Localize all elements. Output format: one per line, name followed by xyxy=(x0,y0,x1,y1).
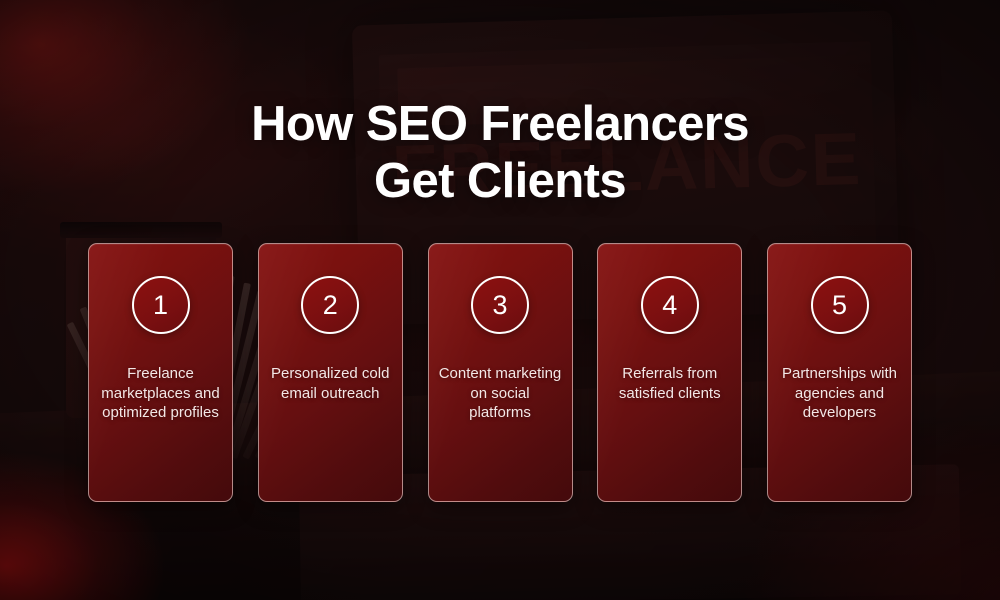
step-description-3: Content marketing on social platforms xyxy=(429,364,572,423)
page-title-line-1: How SEO Freelancers xyxy=(90,96,910,153)
step-number-badge-3: 3 xyxy=(471,276,529,334)
step-number-5: 5 xyxy=(832,292,847,319)
step-description-2: Personalized cold email outreach xyxy=(259,364,402,403)
step-card-5[interactable]: 5 Partnerships with agencies and develop… xyxy=(767,243,912,502)
step-card-1[interactable]: 1 Freelance marketplaces and optimized p… xyxy=(88,243,233,502)
step-number-4: 4 xyxy=(662,292,677,319)
step-description-1: Freelance marketplaces and optimized pro… xyxy=(89,364,232,423)
steps-card-row: 1 Freelance marketplaces and optimized p… xyxy=(88,243,912,502)
infographic-canvas: FREELANCE How SEO Freelancers Get Client… xyxy=(0,0,1000,600)
step-number-2: 2 xyxy=(323,292,338,319)
step-number-badge-4: 4 xyxy=(641,276,699,334)
step-number-badge-2: 2 xyxy=(301,276,359,334)
step-card-2[interactable]: 2 Personalized cold email outreach xyxy=(258,243,403,502)
step-number-1: 1 xyxy=(153,292,168,319)
step-description-5: Partnerships with agencies and developer… xyxy=(768,364,911,423)
page-title-line-2: Get Clients xyxy=(90,153,910,210)
step-number-3: 3 xyxy=(492,292,507,319)
content-layer: How SEO Freelancers Get Clients 1 Freela… xyxy=(0,0,1000,600)
step-number-badge-5: 5 xyxy=(811,276,869,334)
step-number-badge-1: 1 xyxy=(132,276,190,334)
step-card-4[interactable]: 4 Referrals from satisfied clients xyxy=(597,243,742,502)
step-description-4: Referrals from satisfied clients xyxy=(598,364,741,403)
page-title: How SEO Freelancers Get Clients xyxy=(90,96,910,210)
step-card-3[interactable]: 3 Content marketing on social platforms xyxy=(428,243,573,502)
